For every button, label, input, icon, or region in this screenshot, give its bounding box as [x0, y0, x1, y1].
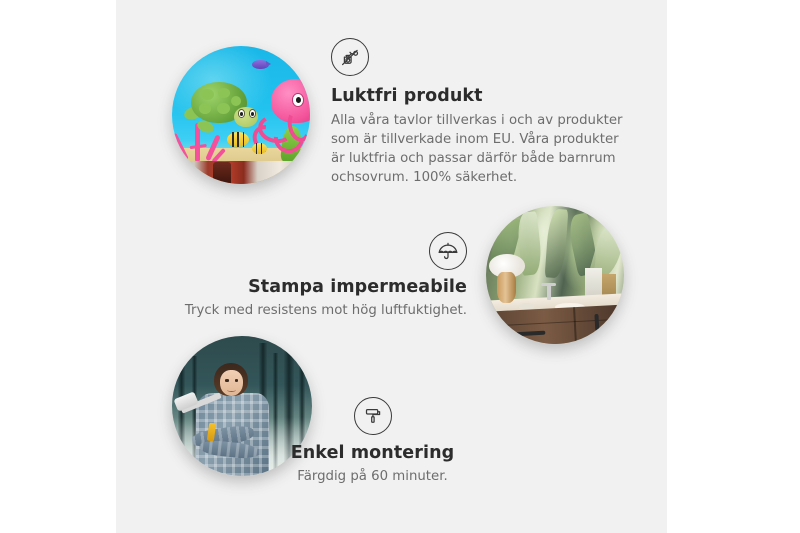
- underwater-cartoon-photo: [172, 46, 310, 184]
- fish-yellow-small: [252, 143, 267, 154]
- person-eye-right: [235, 379, 238, 381]
- bathroom-botanical-wallpaper-photo: [486, 206, 624, 344]
- brass-vase: [497, 272, 516, 302]
- paint-roller-icon: [354, 397, 392, 435]
- person-eye-left: [225, 379, 228, 381]
- photo-edge-strip: [172, 161, 310, 184]
- wood-vanity-cabinet: [491, 305, 624, 344]
- product-feature-infographic: Luktfri produkt Alla våra tavlor tillver…: [0, 0, 800, 533]
- umbrella-icon: [429, 232, 467, 270]
- no-scent-spray-bottle-icon: [331, 38, 369, 76]
- feature-description: Färgdig på 60 minuter.: [255, 468, 490, 487]
- feature-description: Tryck med resistens mot hög luftfuktighe…: [170, 302, 467, 321]
- feature-waterproof: Stampa impermeabile Tryck med resistens …: [170, 232, 467, 321]
- feature-odourless: Luktfri produkt Alla våra tavlor tillver…: [331, 38, 631, 187]
- fish-purple-tail: [266, 61, 271, 67]
- feature-title: Enkel montering: [255, 443, 490, 465]
- feature-description: Alla våra tavlor tillverkas i och av pro…: [331, 112, 623, 188]
- feature-easy-mounting: Enkel montering Färgdig på 60 minuter.: [255, 397, 490, 487]
- fish-yellow-large: [227, 132, 249, 147]
- icon-wrapper: [170, 232, 467, 270]
- icon-wrapper: [255, 397, 490, 435]
- feature-title: Stampa impermeabile: [170, 277, 467, 299]
- photo-edge-object: [213, 162, 231, 184]
- faucet: [547, 283, 551, 300]
- feature-title: Luktfri produkt: [331, 86, 631, 108]
